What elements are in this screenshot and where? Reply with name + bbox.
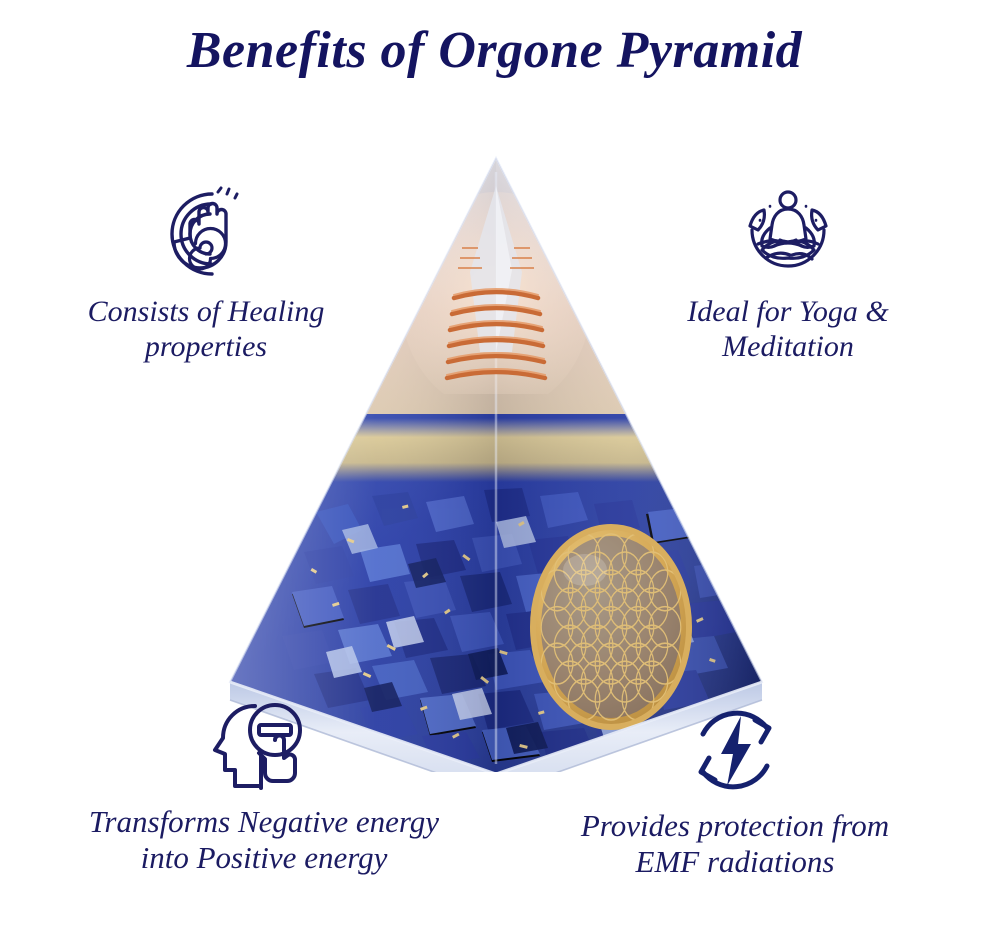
- healing-hand-icon: [30, 182, 382, 286]
- lightning-refresh-icon: [490, 698, 980, 802]
- benefit-healing-caption: Consists of Healing properties: [30, 294, 382, 364]
- meditation-lotus-icon: [612, 182, 964, 286]
- benefit-yoga-caption: Ideal for Yoga & Meditation: [612, 294, 964, 364]
- infographic-page: { "title": "Benefits of Orgone Pyramid",…: [0, 0, 989, 951]
- flower-of-life-symbol: [533, 527, 689, 727]
- benefit-consists-of-healing-properties: Consists of Healing properties: [30, 182, 382, 364]
- benefit-transforms-negative-energy: Transforms Negative energy into Positive…: [14, 698, 514, 877]
- head-negative-thought-icon: [14, 698, 514, 798]
- copper-coil: [401, 186, 591, 412]
- benefit-ideal-for-yoga-meditation: Ideal for Yoga & Meditation: [612, 182, 964, 364]
- benefit-provides-protection-from-emf: Provides protection from EMF radiations: [490, 698, 980, 881]
- page-title: Benefits of Orgone Pyramid: [0, 22, 989, 80]
- benefit-emf-caption: Provides protection from EMF radiations: [490, 808, 980, 881]
- benefit-negative-caption: Transforms Negative energy into Positive…: [14, 804, 514, 877]
